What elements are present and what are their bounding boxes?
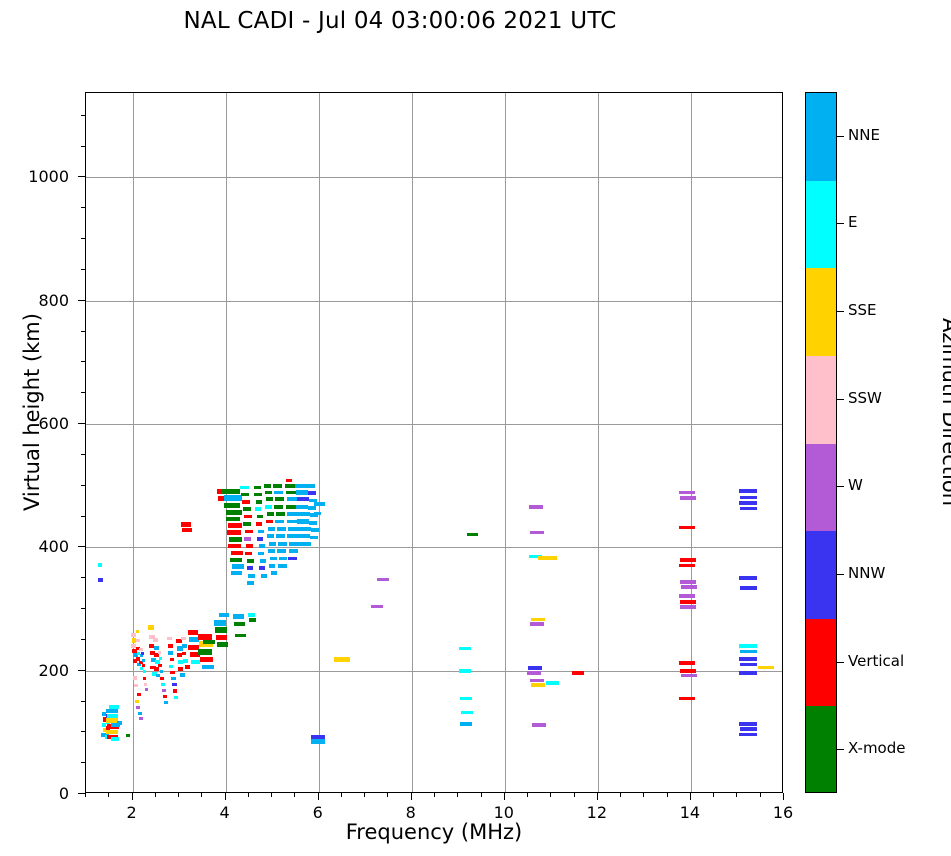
echo-mark — [171, 677, 175, 680]
echo-mark — [739, 489, 757, 493]
echo-mark — [532, 723, 546, 727]
echo-mark — [258, 530, 265, 534]
echo-mark — [228, 523, 242, 528]
colorbar-tick — [837, 399, 844, 400]
echo-mark — [247, 559, 254, 563]
y-tick-label: 200 — [9, 661, 69, 680]
x-tick — [434, 793, 435, 797]
echo-mark — [254, 486, 261, 490]
colorbar-tick — [837, 311, 844, 312]
echo-mark — [256, 500, 263, 504]
echo-mark — [245, 552, 252, 556]
y-axis-title: Virtual height (km) — [20, 262, 44, 562]
echo-mark — [154, 646, 159, 650]
echo-mark — [137, 693, 141, 696]
colorbar-tick — [837, 136, 844, 137]
x-tick — [457, 793, 458, 797]
y-tick — [78, 423, 85, 424]
echo-mark — [371, 605, 383, 609]
colorbar-label-x-mode: X-mode — [848, 739, 905, 757]
echo-mark — [134, 684, 138, 688]
echo-mark — [240, 486, 249, 490]
echo-mark — [232, 564, 244, 568]
x-tick — [527, 793, 528, 797]
y-tick — [81, 485, 85, 486]
echo-mark — [271, 571, 278, 575]
echo-mark — [249, 618, 256, 622]
echo-mark — [241, 493, 249, 497]
echo-mark — [278, 542, 287, 546]
gridline-vertical — [691, 93, 692, 792]
echo-mark — [131, 633, 136, 637]
echo-mark — [758, 666, 774, 670]
echo-mark — [273, 484, 282, 488]
echo-mark — [145, 688, 148, 691]
echo-mark — [142, 664, 145, 667]
echo-mark — [309, 521, 316, 525]
echo-mark — [297, 519, 309, 523]
x-tick — [481, 793, 482, 797]
echo-mark — [681, 674, 697, 678]
echo-mark — [200, 657, 213, 662]
echo-mark — [740, 663, 758, 667]
echo-mark — [287, 534, 297, 538]
echo-mark — [467, 533, 478, 537]
echo-mark — [191, 660, 200, 664]
echo-mark — [243, 522, 250, 526]
echo-mark — [527, 671, 541, 675]
echo-mark — [188, 630, 198, 635]
echo-mark — [288, 527, 298, 531]
echo-mark — [308, 506, 316, 510]
echo-mark — [254, 493, 261, 497]
echo-mark — [244, 515, 251, 519]
echo-mark — [286, 479, 293, 482]
x-tick — [178, 793, 179, 797]
echo-mark — [287, 497, 297, 501]
echo-mark — [288, 557, 297, 561]
echo-mark — [296, 505, 308, 509]
echo-mark — [224, 503, 241, 508]
page-title: NAL CADI - Jul 04 03:00:06 2021 UTC — [0, 8, 800, 34]
echo-mark — [679, 491, 695, 495]
echo-mark — [224, 495, 242, 501]
y-tick — [81, 207, 85, 208]
echo-mark — [106, 730, 118, 734]
y-tick — [81, 639, 85, 640]
x-tick — [550, 793, 551, 797]
echo-mark — [679, 564, 695, 567]
echo-mark — [161, 683, 165, 686]
x-axis-title: Frequency (MHz) — [85, 820, 783, 844]
y-tick — [81, 269, 85, 270]
echo-mark — [311, 739, 325, 743]
x-tick — [713, 793, 714, 797]
colorbar-title: Azimuth Direction — [938, 252, 951, 572]
echo-mark — [230, 558, 242, 562]
x-tick — [387, 793, 388, 797]
echo-mark — [181, 522, 191, 528]
echo-mark — [275, 520, 284, 524]
y-tick — [78, 176, 85, 177]
echo-mark — [234, 622, 244, 626]
echo-mark — [266, 497, 273, 501]
echo-mark — [180, 673, 185, 677]
echo-mark — [226, 517, 241, 522]
echo-mark — [164, 701, 168, 704]
echo-mark — [739, 644, 757, 648]
echo-mark — [279, 557, 287, 561]
echo-mark — [287, 520, 297, 524]
echo-mark — [298, 512, 310, 516]
echo-mark — [530, 622, 544, 626]
echo-mark — [169, 665, 173, 669]
y-tick — [78, 300, 85, 301]
echo-mark — [268, 549, 275, 553]
echo-mark — [217, 642, 228, 647]
echo-mark — [231, 571, 242, 575]
echo-mark — [243, 507, 250, 511]
colorbar — [805, 92, 837, 793]
echo-mark — [133, 676, 137, 680]
echo-mark — [679, 526, 695, 530]
echo-mark — [229, 537, 242, 541]
echo-mark — [246, 544, 253, 548]
echo-mark — [308, 491, 316, 495]
y-tick — [81, 392, 85, 393]
echo-mark — [154, 667, 159, 671]
echo-mark — [740, 507, 758, 511]
echo-mark — [276, 534, 285, 538]
echo-mark — [228, 544, 241, 548]
echo-mark — [531, 618, 545, 622]
echo-mark — [265, 505, 272, 509]
colorbar-segment-x-mode — [806, 706, 836, 793]
echo-mark — [267, 512, 274, 516]
echo-mark — [739, 733, 757, 736]
x-tick — [736, 793, 737, 797]
colorbar-segment-nne — [806, 93, 836, 181]
echo-mark — [740, 586, 758, 590]
y-tick — [81, 608, 85, 609]
x-tick — [783, 793, 784, 800]
echo-mark — [168, 644, 173, 648]
y-tick — [81, 146, 85, 147]
echo-mark — [153, 638, 158, 642]
echo-mark — [459, 647, 471, 651]
y-tick — [81, 701, 85, 702]
echo-mark — [98, 563, 103, 567]
echo-mark — [244, 537, 251, 541]
echo-mark — [546, 681, 559, 685]
echo-mark — [167, 637, 172, 641]
echo-mark — [268, 527, 275, 531]
x-tick — [132, 793, 133, 800]
echo-mark — [679, 661, 695, 665]
echo-mark — [740, 727, 758, 731]
echo-mark — [158, 651, 162, 654]
echo-mark — [460, 697, 472, 701]
echo-mark — [307, 484, 315, 488]
echo-mark — [111, 737, 119, 741]
echo-mark — [289, 542, 299, 546]
echo-mark — [248, 613, 255, 617]
y-tick — [78, 793, 85, 794]
echo-mark — [275, 497, 284, 501]
echo-mark — [242, 500, 250, 504]
echo-mark — [233, 614, 244, 618]
x-tick — [341, 793, 342, 797]
echo-mark — [531, 683, 545, 687]
x-tick — [364, 793, 365, 797]
ionogram-figure: NAL CADI - Jul 04 03:00:06 2021 UTC 2468… — [0, 0, 951, 856]
echo-mark — [377, 578, 389, 582]
x-tick — [620, 793, 621, 797]
echo-mark — [219, 613, 229, 617]
echo-mark — [109, 705, 118, 709]
echo-mark — [740, 650, 758, 654]
echo-mark — [680, 580, 696, 584]
echo-mark — [136, 639, 140, 643]
echo-mark — [538, 556, 558, 560]
colorbar-tick — [837, 662, 844, 663]
echo-mark — [679, 594, 695, 598]
gridline-horizontal — [86, 547, 782, 548]
y-tick — [81, 331, 85, 332]
echo-mark — [98, 578, 102, 582]
echo-mark — [277, 549, 286, 553]
echo-mark — [136, 630, 139, 633]
echo-mark — [255, 507, 262, 511]
colorbar-label-vertical: Vertical — [848, 652, 904, 670]
echo-mark — [277, 527, 286, 531]
echo-mark — [298, 534, 310, 538]
y-tick — [81, 762, 85, 763]
echo-mark — [276, 512, 285, 516]
x-tick — [271, 793, 272, 797]
echo-mark — [461, 711, 473, 715]
echo-mark — [300, 542, 311, 546]
echo-mark — [203, 640, 215, 644]
echo-mark — [530, 679, 544, 683]
colorbar-tick — [837, 749, 844, 750]
colorbar-segment-nnw — [806, 531, 836, 619]
x-tick — [411, 793, 412, 800]
echo-mark — [285, 484, 295, 488]
echo-mark — [265, 491, 272, 495]
echo-mark — [297, 497, 309, 501]
echo-mark — [183, 659, 188, 663]
echo-mark — [311, 528, 318, 532]
y-tick-label: 0 — [9, 784, 69, 803]
echo-mark — [138, 712, 142, 715]
echo-mark — [215, 627, 227, 633]
echo-mark — [216, 635, 227, 640]
echo-mark — [257, 537, 264, 541]
echo-mark — [143, 677, 146, 680]
echo-mark — [739, 671, 757, 675]
echo-mark — [181, 637, 186, 641]
echo-mark — [202, 665, 214, 669]
colorbar-label-e: E — [848, 213, 857, 231]
echo-mark — [274, 505, 283, 509]
echo-mark — [159, 657, 163, 660]
echo-mark — [528, 666, 542, 670]
gridline-vertical — [505, 93, 506, 792]
y-tick — [78, 670, 85, 671]
colorbar-label-w: W — [848, 476, 863, 494]
echo-mark — [227, 530, 241, 535]
echo-mark — [314, 512, 321, 515]
gridline-vertical — [319, 93, 320, 792]
echo-mark — [248, 574, 255, 578]
echo-mark — [529, 505, 543, 509]
plot-area — [85, 92, 783, 793]
echo-mark — [173, 689, 177, 692]
x-tick — [690, 793, 691, 800]
colorbar-segment-vertical — [806, 619, 836, 707]
echo-mark — [256, 522, 263, 526]
echo-mark — [269, 564, 276, 568]
echo-mark — [117, 721, 122, 725]
echo-mark — [334, 657, 350, 661]
gridline-horizontal — [86, 301, 782, 302]
echo-mark — [126, 734, 129, 737]
echo-mark — [267, 534, 274, 538]
echo-mark — [270, 557, 277, 561]
echo-mark — [106, 709, 118, 713]
gridline-vertical — [226, 93, 227, 792]
echo-mark — [680, 558, 696, 562]
echo-mark — [260, 559, 266, 563]
colorbar-segment-ssw — [806, 356, 836, 444]
x-tick — [155, 793, 156, 797]
echo-mark — [259, 544, 266, 548]
echo-mark — [286, 491, 296, 495]
echo-mark — [258, 552, 264, 556]
colorbar-segment-sse — [806, 268, 836, 356]
echo-mark — [460, 722, 472, 726]
echo-mark — [172, 683, 176, 686]
echo-mark — [680, 605, 696, 609]
echo-mark — [188, 645, 198, 650]
echo-mark — [739, 657, 757, 661]
echo-mark — [182, 644, 187, 648]
colorbar-tick — [837, 574, 844, 575]
y-tick — [81, 577, 85, 578]
echo-mark — [299, 527, 311, 531]
colorbar-label-nnw: NNW — [848, 564, 885, 582]
echo-mark — [139, 717, 143, 720]
echo-mark — [160, 677, 164, 680]
echo-mark — [269, 542, 276, 546]
echo-mark — [266, 520, 273, 524]
echo-mark — [198, 649, 212, 655]
echo-mark — [274, 491, 283, 495]
x-tick — [318, 793, 319, 800]
x-tick — [574, 793, 575, 797]
colorbar-label-sse: SSE — [848, 301, 877, 319]
x-tick — [85, 793, 86, 797]
x-tick — [597, 793, 598, 800]
echo-mark — [142, 659, 145, 662]
y-tick — [81, 454, 85, 455]
y-tick — [81, 115, 85, 116]
colorbar-segment-e — [806, 181, 836, 269]
gridline-vertical — [598, 93, 599, 792]
echo-mark — [185, 665, 190, 669]
echo-mark — [178, 667, 183, 671]
echo-mark — [295, 484, 307, 488]
echo-mark — [740, 496, 758, 500]
echo-mark — [739, 576, 757, 580]
echo-mark — [226, 510, 242, 515]
gridline-vertical — [412, 93, 413, 792]
echo-mark — [228, 489, 234, 492]
echo-mark — [459, 669, 471, 673]
x-tick — [294, 793, 295, 797]
x-tick — [667, 793, 668, 797]
y-tick — [81, 516, 85, 517]
echo-mark — [287, 512, 297, 516]
echo-mark — [148, 625, 154, 629]
colorbar-tick — [837, 486, 844, 487]
echo-mark — [257, 515, 264, 519]
echo-mark — [245, 530, 252, 534]
echo-mark — [247, 581, 254, 585]
echo-mark — [168, 651, 173, 655]
x-tick — [248, 793, 249, 797]
echo-mark — [162, 689, 166, 692]
echo-mark — [141, 652, 144, 655]
gridline-horizontal — [86, 177, 782, 178]
colorbar-segment-w — [806, 444, 836, 532]
x-tick — [643, 793, 644, 797]
echo-mark — [530, 531, 544, 535]
gridline-horizontal — [86, 671, 782, 672]
echo-mark — [170, 671, 174, 675]
colorbar-label-ssw: SSW — [848, 389, 882, 407]
echo-mark — [231, 551, 243, 555]
echo-mark — [739, 501, 757, 504]
y-tick — [81, 238, 85, 239]
echo-mark — [182, 652, 187, 656]
echo-mark — [136, 706, 139, 709]
echo-mark — [235, 634, 245, 638]
x-tick — [108, 793, 109, 797]
echo-mark — [259, 566, 265, 570]
x-tick — [504, 793, 505, 800]
y-tick — [78, 546, 85, 547]
echo-mark — [264, 484, 271, 488]
echo-mark — [182, 528, 191, 532]
x-tick — [201, 793, 202, 797]
echo-mark — [160, 670, 164, 673]
colorbar-label-nne: NNE — [848, 126, 880, 144]
gridline-horizontal — [86, 424, 782, 425]
y-tick — [81, 361, 85, 362]
echo-mark — [739, 722, 757, 726]
echo-mark — [278, 564, 286, 568]
echo-mark — [139, 648, 142, 651]
echo-mark — [170, 658, 174, 662]
colorbar-tick — [837, 223, 844, 224]
x-tick — [225, 793, 226, 800]
echo-mark — [680, 669, 696, 673]
echo-mark — [314, 502, 324, 506]
echo-mark — [174, 696, 178, 699]
x-tick — [760, 793, 761, 797]
